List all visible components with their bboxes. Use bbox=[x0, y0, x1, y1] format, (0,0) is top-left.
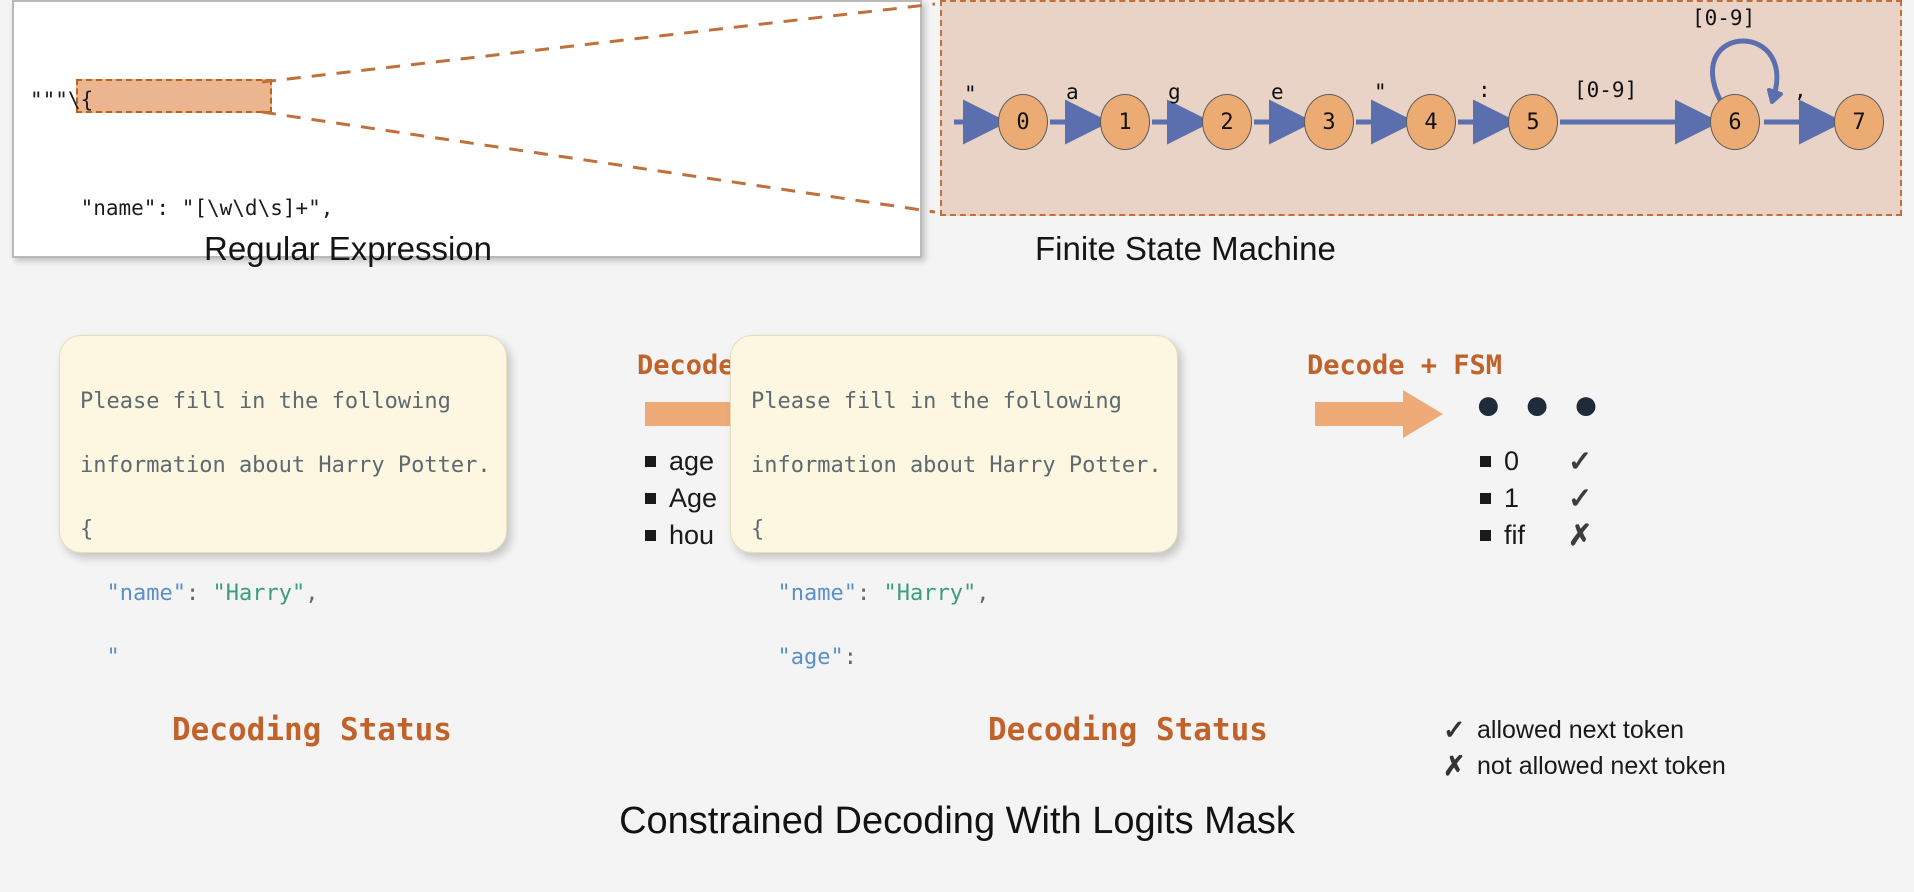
caption-finite-state-machine: Finite State Machine bbox=[1035, 230, 1336, 268]
legend-label: allowed next token bbox=[1477, 716, 1684, 745]
token-text: Age bbox=[669, 483, 727, 514]
fsm-state-5: 5 bbox=[1508, 94, 1558, 150]
cross-icon: ✗ bbox=[1443, 751, 1477, 782]
json-colon: : bbox=[844, 645, 857, 670]
json-key-name: "name" bbox=[778, 581, 857, 606]
json-comma: , bbox=[305, 581, 318, 606]
bullet-icon bbox=[645, 530, 656, 541]
legend-row-not-allowed: ✗ not allowed next token bbox=[1443, 748, 1726, 784]
token-row: 0 ✓ bbox=[1480, 443, 1592, 480]
prompt-box-step-2: Please fill in the following information… bbox=[730, 335, 1178, 553]
bullet-icon bbox=[1480, 456, 1491, 467]
token-row: fif ✗ bbox=[1480, 517, 1592, 554]
prompt-line: Please fill in the following bbox=[80, 389, 451, 414]
prompt-line: Please fill in the following bbox=[751, 389, 1122, 414]
legend: ✓ allowed next token ✗ not allowed next … bbox=[1443, 712, 1726, 784]
prompt-code-step-2: Please fill in the following information… bbox=[751, 354, 1157, 706]
check-icon: ✓ bbox=[1568, 481, 1592, 516]
prompt-line: information about Harry Potter. bbox=[751, 453, 1162, 478]
token-list-step-2: 0 ✓ 1 ✓ fif ✗ bbox=[1480, 443, 1592, 554]
prompt-box-step-1: Please fill in the following information… bbox=[59, 335, 507, 553]
legend-row-allowed: ✓ allowed next token bbox=[1443, 712, 1726, 748]
json-key-age: "age" bbox=[778, 645, 844, 670]
bullet-icon bbox=[1480, 493, 1491, 504]
fsm-label-g: g bbox=[1168, 80, 1181, 104]
regular-expression-panel: """\{ "name": "[\w\d\s]+", "age": [0-9]+… bbox=[12, 0, 922, 258]
fsm-state-3: 3 bbox=[1304, 94, 1354, 150]
bullet-icon bbox=[645, 456, 656, 467]
fsm-state-6: 6 bbox=[1710, 94, 1760, 150]
json-value-harry: "Harry" bbox=[883, 581, 976, 606]
decode-arrow-step-2 bbox=[1315, 388, 1445, 440]
prompt-code-step-1: Please fill in the following information… bbox=[80, 354, 486, 706]
prompt-line: information about Harry Potter. bbox=[80, 453, 491, 478]
decode-label-step-2: Decode + FSM bbox=[1307, 350, 1502, 381]
fsm-label-start-quote: " bbox=[964, 82, 977, 106]
json-value-harry: "Harry" bbox=[212, 581, 305, 606]
fsm-state-1: 1 bbox=[1100, 94, 1150, 150]
prompt-indent bbox=[751, 645, 778, 670]
check-icon: ✓ bbox=[1568, 444, 1592, 479]
decoding-status-caption-2: Decoding Status bbox=[988, 712, 1268, 748]
token-text: fif bbox=[1504, 520, 1562, 551]
fsm-label-e: e bbox=[1271, 80, 1284, 104]
fsm-label-colon: : bbox=[1478, 78, 1491, 102]
token-text: 1 bbox=[1504, 483, 1562, 514]
prompt-indent bbox=[751, 581, 778, 606]
bullet-icon bbox=[1480, 530, 1491, 541]
fsm-state-7: 7 bbox=[1834, 94, 1884, 150]
fsm-state-2: 2 bbox=[1202, 94, 1252, 150]
fsm-label-digit-loop: [0-9] bbox=[1692, 6, 1755, 30]
token-text: hou bbox=[669, 520, 727, 551]
legend-label: not allowed next token bbox=[1477, 752, 1726, 781]
fsm-label-a: a bbox=[1066, 80, 1079, 104]
fsm-label-comma: , bbox=[1794, 78, 1807, 102]
decoding-status-caption-1: Decoding Status bbox=[172, 712, 452, 748]
json-comma: , bbox=[976, 581, 989, 606]
json-colon: : bbox=[186, 581, 213, 606]
prompt-line: { bbox=[751, 517, 764, 542]
token-row: 1 ✓ bbox=[1480, 480, 1592, 517]
regex-line: "name": "[\w\d\s]+", bbox=[30, 190, 776, 226]
ellipsis-indicator: ● ● ● bbox=[1475, 380, 1604, 430]
fsm-state-0: 0 bbox=[998, 94, 1048, 150]
fsm-label-quote: " bbox=[1374, 80, 1387, 104]
prompt-line: { bbox=[80, 517, 93, 542]
json-key-name: "name" bbox=[107, 581, 186, 606]
json-colon: : bbox=[857, 581, 884, 606]
prompt-indent bbox=[80, 581, 107, 606]
finite-state-machine-panel: 0 1 2 3 4 5 6 7 " a g e " : [0-9] [0-9] … bbox=[940, 0, 1902, 216]
regex-code-block: """\{ "name": "[\w\d\s]+", "age": [0-9]+… bbox=[30, 10, 776, 258]
bullet-icon bbox=[645, 493, 656, 504]
token-text: 0 bbox=[1504, 446, 1562, 477]
check-icon: ✓ bbox=[1443, 715, 1477, 746]
json-open-quote: " bbox=[107, 645, 120, 670]
fsm-label-digit-class: [0-9] bbox=[1574, 78, 1637, 102]
figure-title: Constrained Decoding With Logits Mask bbox=[0, 800, 1914, 843]
cross-icon: ✗ bbox=[1568, 518, 1592, 553]
regex-line: """\{ bbox=[30, 82, 776, 118]
prompt-indent bbox=[80, 645, 107, 670]
fsm-state-4: 4 bbox=[1406, 94, 1456, 150]
token-text: age bbox=[669, 446, 727, 477]
